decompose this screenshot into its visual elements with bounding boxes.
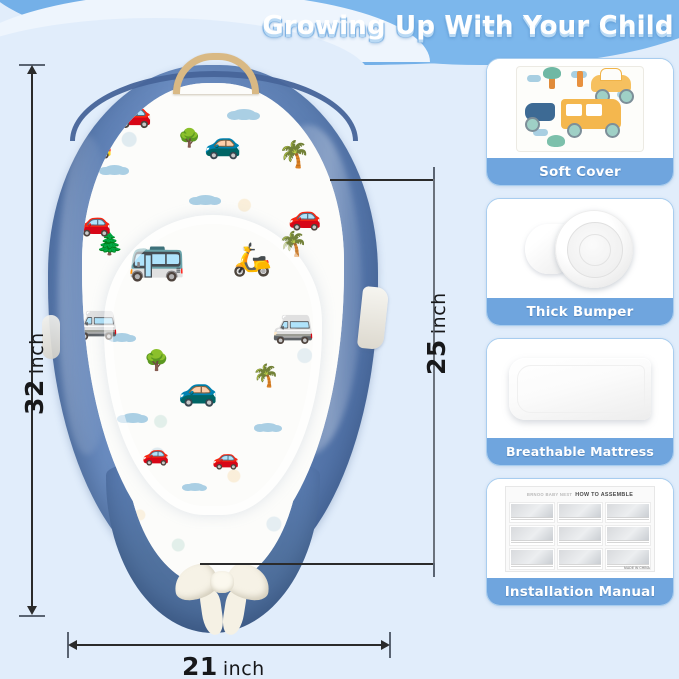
leaf-icon bbox=[547, 135, 565, 147]
soft-cover-image bbox=[487, 59, 673, 158]
bow-knot bbox=[210, 571, 234, 593]
red-car-icon: 🚗 bbox=[82, 209, 112, 236]
manual-sheet: BRNOO BABY NEST HOW TO ASSEMBLE bbox=[505, 486, 655, 572]
cloud-icon bbox=[104, 165, 125, 175]
manual-step-grid bbox=[509, 502, 651, 570]
red-car-icon: 🚗 bbox=[212, 447, 239, 469]
product-infographic: Growing Up With Your Child 🚗 🚕 🚗 🌴 🌳 � bbox=[0, 0, 679, 679]
bus-icon: 🚐 bbox=[272, 309, 314, 343]
card-label-soft-cover: Soft Cover bbox=[487, 158, 673, 185]
manual-step bbox=[605, 502, 651, 523]
fabric-swatch bbox=[517, 67, 643, 151]
dimension-inner-height-unit: inch bbox=[428, 292, 450, 334]
feature-card-installation-manual[interactable]: BRNOO BABY NEST HOW TO ASSEMBLE bbox=[486, 478, 674, 606]
card-label-breathable-mattress: Breathable Mattress bbox=[487, 438, 673, 465]
feature-card-breathable-mattress[interactable]: Breathable Mattress bbox=[486, 338, 674, 466]
manual-step bbox=[605, 525, 651, 546]
cloud-icon bbox=[186, 483, 204, 491]
dimension-width-unit: inch bbox=[223, 658, 265, 679]
tree-icon: 🌳 bbox=[144, 351, 169, 371]
red-car-icon: 🚗 bbox=[142, 443, 169, 465]
cloud-icon bbox=[194, 195, 217, 205]
wheel-icon bbox=[605, 123, 620, 138]
palm-tree-icon: 🌴 bbox=[278, 233, 308, 257]
breathable-mattress-image bbox=[487, 339, 673, 438]
dimension-inner-height-value: 25 bbox=[422, 339, 451, 375]
palm-tree-icon: 🌴 bbox=[252, 365, 279, 387]
coiled-bumper-icon bbox=[525, 208, 635, 290]
product-illustration: 🚗 🚕 🚗 🌴 🌳 🚌 🛵 🌲 🌴 🚗 🚗 🚐 bbox=[0, 55, 470, 655]
manual-step bbox=[509, 548, 555, 569]
cloud-icon bbox=[258, 423, 278, 432]
manual-heading-row: BRNOO BABY NEST HOW TO ASSEMBLE bbox=[509, 490, 651, 500]
manual-heading: HOW TO ASSEMBLE bbox=[575, 492, 633, 498]
manual-made-in: MADE IN CHINA bbox=[624, 566, 650, 570]
dimension-height-value: 32 bbox=[20, 379, 49, 415]
palm-tree-icon: 🌴 bbox=[278, 141, 310, 167]
card-label-thick-bumper: Thick Bumper bbox=[487, 298, 673, 325]
baby-nest: 🚗 🚕 🚗 🌴 🌳 🚌 🛵 🌲 🌴 🚗 🚗 🚐 bbox=[48, 65, 378, 610]
manual-brand: BRNOO BABY NEST bbox=[527, 492, 572, 497]
manual-step bbox=[509, 502, 555, 523]
bumper-coil bbox=[555, 210, 633, 288]
mattress-icon bbox=[509, 358, 651, 420]
thick-bumper-image bbox=[487, 199, 673, 298]
ribbon-bow bbox=[174, 565, 270, 635]
cloud-icon bbox=[527, 75, 541, 82]
manual-step bbox=[509, 525, 555, 546]
feature-card-thick-bumper[interactable]: Thick Bumper bbox=[486, 198, 674, 326]
manual-step bbox=[557, 502, 603, 523]
wheel-icon bbox=[619, 89, 634, 104]
manual-step bbox=[557, 548, 603, 569]
page-title: Growing Up With Your Child bbox=[262, 6, 674, 46]
scooter-icon: 🛵 bbox=[232, 243, 272, 275]
feature-card-list: Soft Cover Thick Bumper Breathable Mattr… bbox=[486, 58, 672, 618]
card-label-installation-manual: Installation Manual bbox=[487, 578, 673, 605]
wheel-icon bbox=[525, 117, 540, 132]
manual-step bbox=[557, 525, 603, 546]
installation-manual-image: BRNOO BABY NEST HOW TO ASSEMBLE bbox=[487, 479, 673, 578]
side-strap-tab bbox=[357, 286, 389, 350]
cloud-icon bbox=[122, 413, 144, 423]
blue-car-icon: 🚗 bbox=[178, 373, 218, 405]
tree-icon bbox=[577, 71, 583, 87]
dimension-height-unit: inch bbox=[26, 332, 48, 374]
dimension-width-value: 21 bbox=[182, 652, 218, 679]
red-car-icon: 🚗 bbox=[288, 203, 322, 230]
wheel-icon bbox=[567, 123, 582, 138]
feature-card-soft-cover[interactable]: Soft Cover bbox=[486, 58, 674, 186]
bus-icon: 🚐 bbox=[82, 305, 118, 339]
leaf-icon bbox=[543, 67, 561, 79]
carry-handle bbox=[173, 53, 259, 94]
school-bus-icon: 🚌 bbox=[128, 233, 185, 279]
